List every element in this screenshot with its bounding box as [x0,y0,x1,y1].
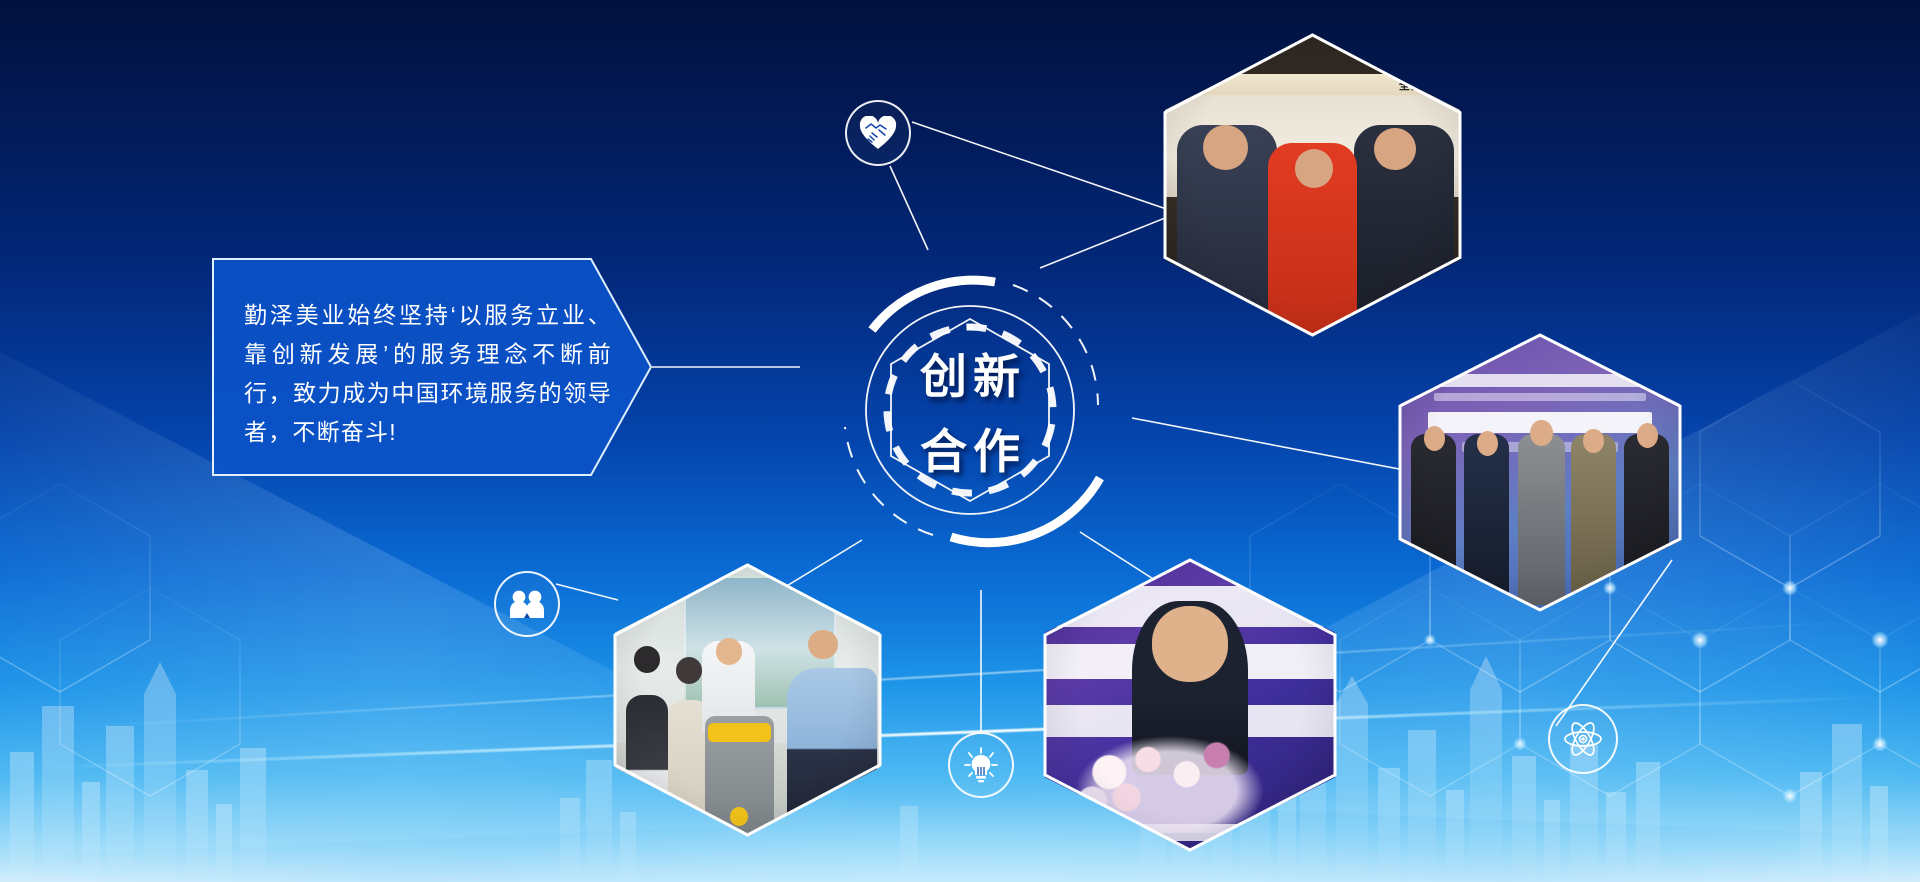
hub-title-line1: 创新 [914,338,1026,407]
central-hub: 创新 合作 [795,235,1145,585]
banner-canvas: 勤泽美业始终坚持‘以服务立业、靠创新发展’的服务理念不断前行，致力成为中国环境服… [0,0,1920,882]
quote-box: 勤泽美业始终坚持‘以服务立业、靠创新发展’的服务理念不断前行，致力成为中国环境服… [212,258,652,476]
photo-frame-2 [1395,330,1685,615]
node-idea[interactable] [948,732,1014,798]
atom-icon [1563,719,1603,759]
connector-handshake-photo1 [912,122,1178,213]
hub-title: 创新 合作 [795,235,1145,585]
photo-frame-4 [610,560,885,840]
node-atom[interactable] [1548,704,1618,774]
photo-frame-3 [1040,555,1340,855]
quote-text: 勤泽美业始终坚持‘以服务立业、靠创新发展’的服务理念不断前行，致力成为中国环境服… [244,296,612,452]
node-handshake[interactable] [845,100,911,166]
hub-title-line2: 合作 [914,413,1026,482]
connector-photo2 [1132,418,1404,470]
photo-frame-1 [1160,30,1465,340]
handshake-heart-icon [859,116,897,150]
lightbulb-icon [962,746,1000,784]
two-people-icon [508,589,546,619]
connector-photo4-people [556,584,618,600]
node-people[interactable] [494,571,560,637]
